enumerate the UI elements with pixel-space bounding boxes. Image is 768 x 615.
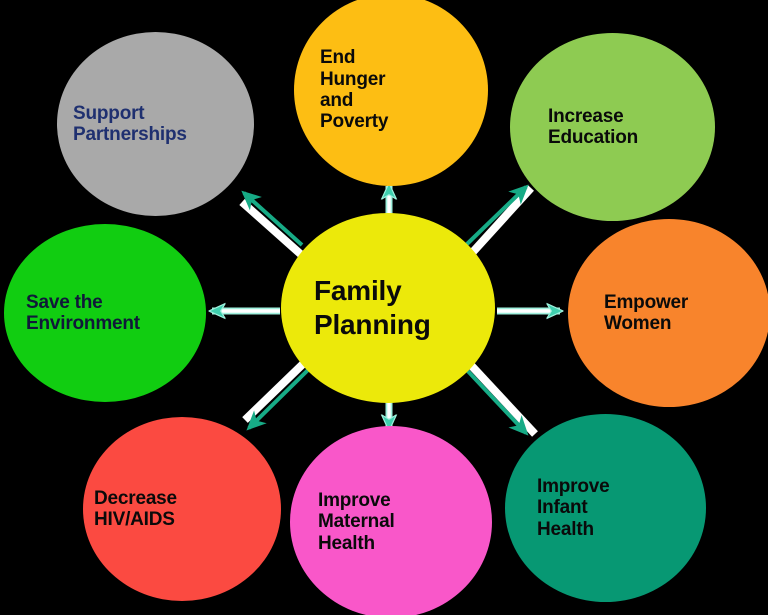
- node-improve-maternal-health[interactable]: Improve Maternal Health: [290, 426, 492, 615]
- node-label-environment: Save the Environment: [4, 292, 140, 335]
- connector-center-infant: [464, 363, 535, 434]
- node-label-education: Increase Education: [510, 106, 638, 149]
- node-label-support: Support Partnerships: [57, 103, 187, 146]
- node-save-the-environment[interactable]: Save the Environment: [4, 224, 206, 402]
- node-family-planning-hub[interactable]: Family Planning: [281, 213, 495, 403]
- node-label-hunger: End Hunger and Poverty: [294, 47, 388, 132]
- node-empower-women[interactable]: Empower Women: [568, 219, 768, 407]
- node-decrease-hiv-aids[interactable]: Decrease HIV/AIDS: [83, 417, 281, 601]
- node-increase-education[interactable]: Increase Education: [510, 33, 715, 221]
- node-improve-infant-health[interactable]: Improve Infant Health: [505, 414, 706, 602]
- connector-center-hiv: [245, 362, 310, 428]
- node-label-hiv: Decrease HIV/AIDS: [83, 488, 177, 531]
- node-end-hunger-and-poverty[interactable]: End Hunger and Poverty: [294, 0, 488, 186]
- node-label-women: Empower Women: [568, 292, 688, 335]
- node-label-infant: Improve Infant Health: [505, 476, 610, 540]
- diagram-canvas: Support Partnerships End Hunger and Pove…: [0, 0, 768, 615]
- connector-center-support: [242, 193, 305, 258]
- connector-center-education: [466, 187, 531, 253]
- node-support-partnerships[interactable]: Support Partnerships: [57, 32, 254, 216]
- node-label-center: Family Planning: [281, 274, 431, 341]
- node-label-maternal: Improve Maternal Health: [290, 490, 395, 554]
